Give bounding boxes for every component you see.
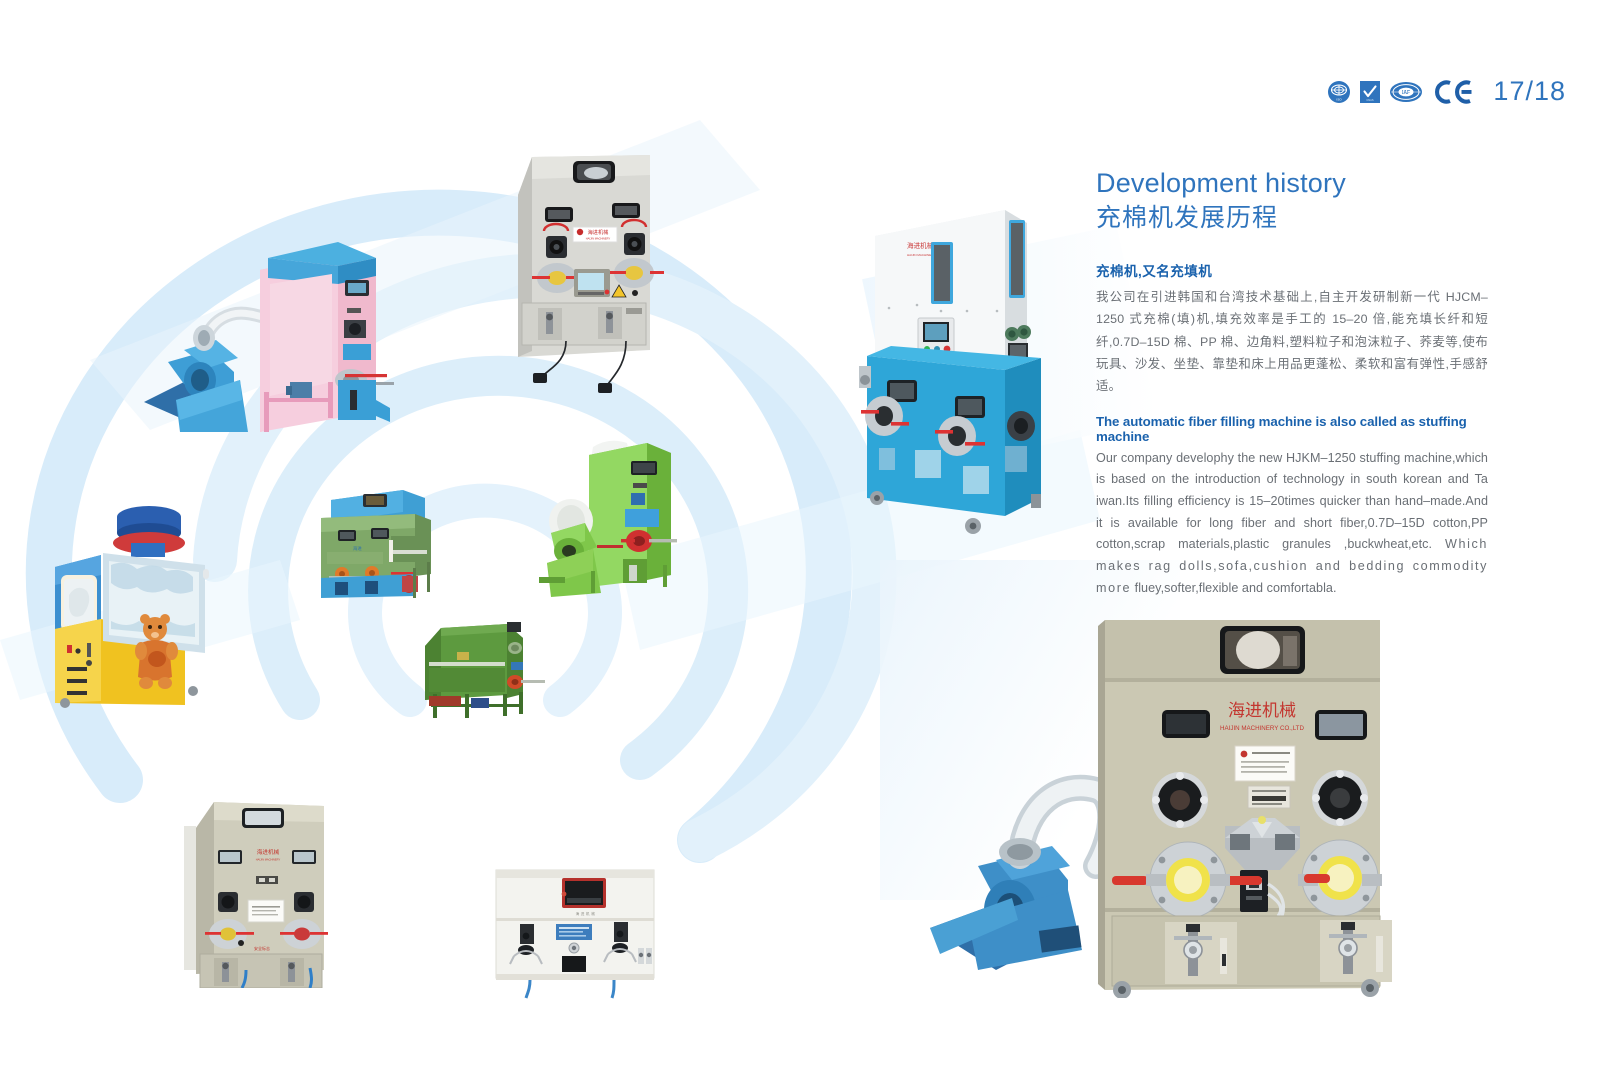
svg-text:IAF: IAF: [1402, 89, 1410, 95]
machine-green-blue-opener: 海进: [305, 478, 440, 598]
svg-text:HAIJIN MACHINERY CO.,LTD: HAIJIN MACHINERY CO.,LTD: [1220, 725, 1304, 732]
machine-teddy-bear: [45, 495, 240, 710]
brochure-page: ISO CNAS IAF 17/18 Development history 充…: [0, 0, 1600, 1092]
page-number: 17/18: [1493, 76, 1566, 107]
iso-cert-icon: ISO: [1327, 80, 1351, 104]
page-title-cn: 充棉机发展历程: [1096, 202, 1488, 235]
subtitle-en: The automatic fiber filling machine is a…: [1096, 414, 1488, 444]
svg-text:海进: 海进: [353, 545, 362, 552]
svg-text:CNAS: CNAS: [1367, 98, 1374, 102]
svg-text:HAIJIN MACHINERY: HAIJIN MACHINERY: [256, 858, 281, 862]
machine-gray-dual-station: 海进机械 HAIJIN MACHINERY: [500, 145, 665, 395]
ce-mark-icon: [1433, 79, 1473, 105]
svg-text:安全标志: 安全标志: [254, 945, 270, 951]
svg-text:ISO: ISO: [1337, 97, 1343, 101]
machine-pink-stuffing: [138, 232, 403, 447]
svg-text:海进机械: 海进机械: [1228, 701, 1296, 720]
machine-beige-dual-station: 海进机械 HAIJIN MACHINERY: [180, 788, 340, 988]
machine-green-carding: [415, 612, 545, 722]
svg-text:海进机械: 海进机械: [576, 911, 597, 916]
subtitle-cn: 充棉机,又名充填机: [1096, 260, 1488, 280]
svg-text:海进机械: 海进机械: [907, 241, 934, 250]
svg-text:海进机械: 海进机械: [588, 228, 609, 236]
body-paragraph-en: Our company develophy the new HJKM–1250 …: [1096, 448, 1488, 600]
iaf-cert-icon: IAF: [1389, 80, 1423, 104]
svg-text:海进机械: 海进机械: [257, 848, 280, 856]
machine-green-blower: [525, 425, 680, 610]
machine-blue-white-tall: 海进机械 HAIJIN MACHINERY CO.: [845, 198, 1050, 538]
body-en-line-6: fluey,softer,flexible and comfortabla.: [1135, 581, 1337, 595]
certification-strip: ISO CNAS IAF 17/18: [1327, 76, 1566, 107]
machine-beige-large: 海进机械 HAIJIN MACHINERY CO.,LTD: [900, 598, 1400, 998]
text-column: Development history 充棉机发展历程 充棉机,又名充填机 我公…: [1096, 168, 1488, 599]
machine-white-wide: 海进机械: [488, 856, 663, 1001]
body-paragraph-cn: 我公司在引进韩国和台湾技术基础上,自主开发研制新一代 HJCM–1250 式充棉…: [1096, 286, 1488, 396]
page-title-en: Development history: [1096, 168, 1488, 200]
svg-text:HAIJIN MACHINERY: HAIJIN MACHINERY: [586, 237, 611, 241]
check-cert-icon: CNAS: [1359, 80, 1381, 104]
